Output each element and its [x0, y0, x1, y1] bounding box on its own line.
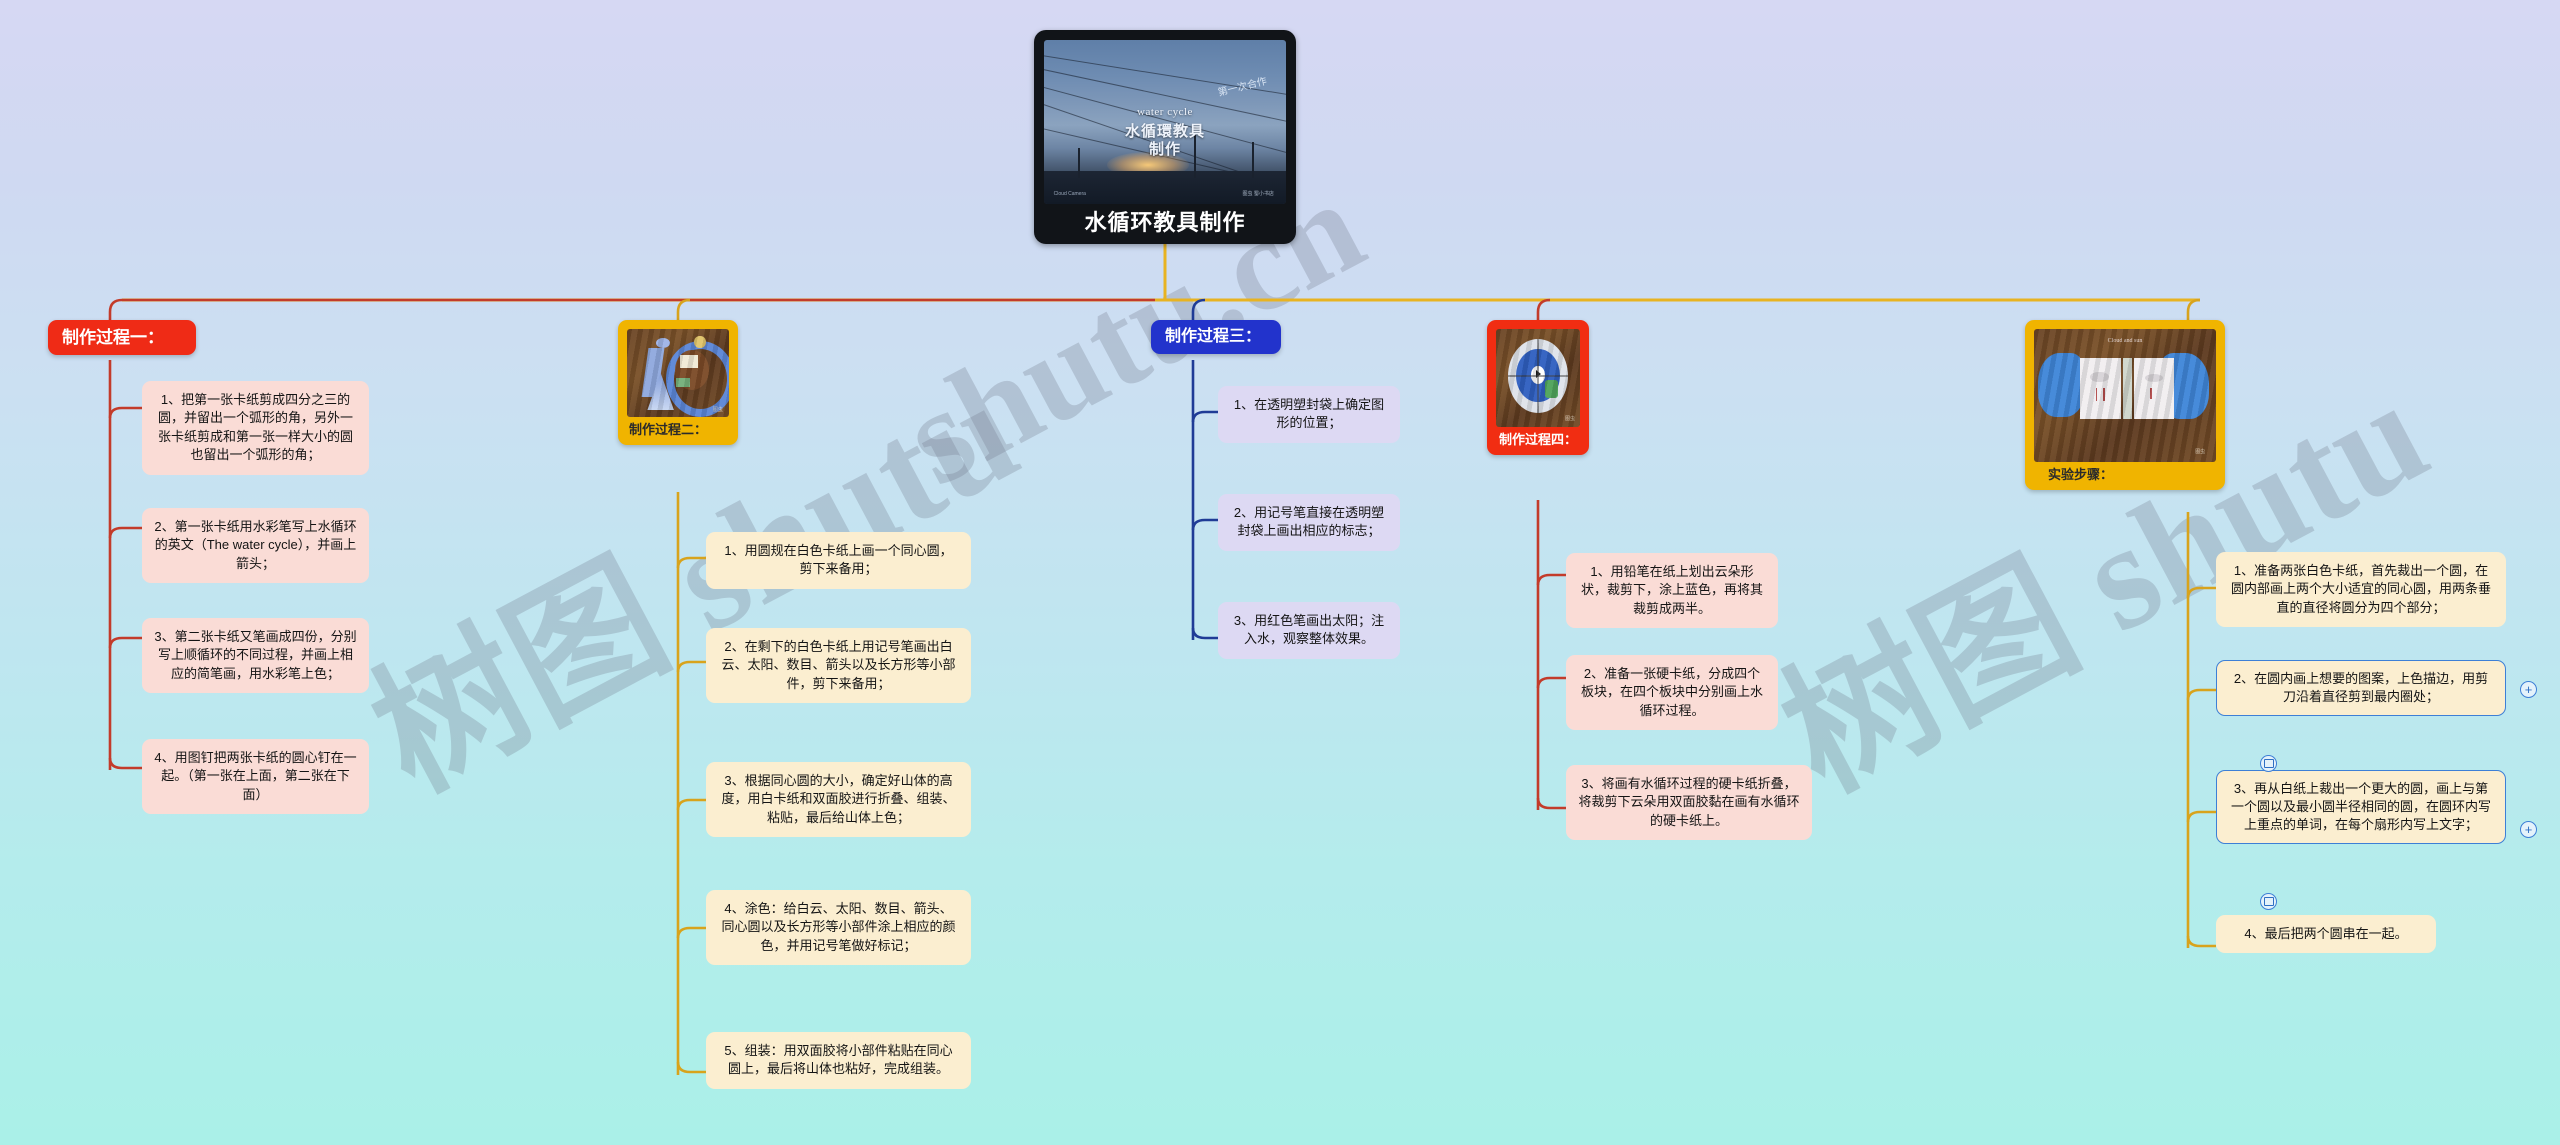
branch-2-item-2[interactable]: 2、在剩下的白色卡纸上用记号笔画出白云、太阳、数目、箭头以及长方形等小部件，剪下… [706, 628, 971, 703]
branch-5-photo-signature: 图虫 [2195, 448, 2205, 455]
branch-5-item-2[interactable]: 2、在圆内画上想要的图案，上色描边，用剪刀沿着直径剪到最内圈处； [2216, 660, 2506, 716]
branch-5-thumbnail: Cloud and sun 图虫 [2034, 329, 2216, 462]
add-child-button-item-3[interactable]: + [2520, 821, 2537, 838]
branch-2-header[interactable]: 图虫 制作过程二： [618, 320, 738, 445]
branch-4-thumbnail: 图虫 [1496, 329, 1580, 427]
root-node[interactable]: 第一次合作 water cycle 水循環教具 制作 Cloud Camera … [1034, 30, 1296, 244]
branch-1-item-3[interactable]: 3、第二张卡纸又笔画成四份，分别写上顺循环的不同过程，并画上相应的简笔画，用水彩… [142, 618, 369, 693]
cover-corner-mark: Cloud Camera [1054, 191, 1086, 197]
branch-5-item-4[interactable]: 4、最后把两个圆串在一起。 [2216, 915, 2436, 953]
branch-2-header-label: 制作过程二： [627, 422, 707, 438]
branch-4-header-label: 制作过程四： [1499, 432, 1577, 448]
branch-1-item-4[interactable]: 4、用图钉把两张卡纸的圆心钉在一起。（第一张在上面，第二张在下面） [142, 739, 369, 814]
add-child-button-item-2[interactable]: + [2520, 681, 2537, 698]
branch-3-header-label: 制作过程三： [1165, 327, 1267, 347]
branch-5-header-label: 实验步骤： [2034, 467, 2113, 483]
branch-2-item-1[interactable]: 1、用圆规在白色卡纸上画一个同心圆，剪下来备用； [706, 532, 971, 589]
branch-5-item-3[interactable]: 3、再从白纸上裁出一个更大的圆，画上与第一个圆以及最小圆半径相同的圆，在圆环内写… [2216, 770, 2506, 844]
cover-caption-cn-2: 制作 [1044, 138, 1286, 159]
branch-3-item-1[interactable]: 1、在透明塑封袋上确定图形的位置； [1218, 386, 1400, 443]
branch-1-item-2[interactable]: 2、第一张卡纸用水彩笔写上水循环的英文（The water cycle），并画上… [142, 508, 369, 583]
branch-5-header[interactable]: Cloud and sun 图虫 实验步骤： [2025, 320, 2225, 490]
branch-4-header[interactable]: 图虫 制作过程四： [1487, 320, 1589, 455]
branch-4-item-3[interactable]: 3、将画有水循环过程的硬卡纸折叠，将裁剪下云朵用双面胶黏在画有水循环的硬卡纸上。 [1566, 765, 1812, 840]
handwriting-overlay: 第一次合作 [1216, 72, 1268, 99]
branch-3-item-2[interactable]: 2、用记号笔直接在透明塑封袋上画出相应的标志； [1218, 494, 1400, 551]
branch-5-item-1[interactable]: 1、准备两张白色卡纸，首先裁出一个圆，在圆内部画上两个大小适宜的同心圆，用两条垂… [2216, 552, 2506, 627]
branch-1-item-1[interactable]: 1、把第一张卡纸剪成四分之三的圆，并留出一个弧形的角，另外一张卡纸剪成和第一张一… [142, 381, 369, 475]
collapse-icon [2264, 897, 2274, 906]
branch-4-item-1[interactable]: 1、用铅笔在纸上划出云朵形状，裁剪下，涂上蓝色，再将其裁剪成两半。 [1566, 553, 1778, 628]
collapse-icon [2264, 759, 2274, 768]
collapse-toggle-item-2[interactable] [2260, 755, 2277, 772]
branch-2-item-5[interactable]: 5、组装：用双面胶将小部件粘贴在同心圆上，最后将山体也粘好，完成组装。 [706, 1032, 971, 1089]
branch-3-header[interactable]: 制作过程三： [1151, 320, 1281, 354]
cover-brand-mark: 图虫 蜀小书店 [1243, 190, 1274, 197]
cover-caption-en: water cycle [1044, 106, 1286, 118]
branch-4-photo-signature: 图虫 [1565, 415, 1575, 422]
branch-3-item-3[interactable]: 3、用红色笔画出太阳；注入水，观察整体效果。 [1218, 602, 1400, 659]
branch-2-photo-signature: 图虫 [713, 406, 723, 413]
branch-1-header[interactable]: 制作过程一： [48, 320, 196, 355]
collapse-toggle-item-3[interactable] [2260, 893, 2277, 910]
branch-1-header-label: 制作过程一： [62, 327, 182, 348]
branch-2-thumbnail: 图虫 [627, 329, 729, 417]
root-cover-image: 第一次合作 water cycle 水循環教具 制作 Cloud Camera … [1044, 40, 1286, 204]
branch-2-item-3[interactable]: 3、根据同心圆的大小，确定好山体的高度，用白卡纸和双面胶进行折叠、组装、粘贴，最… [706, 762, 971, 837]
mindmap-canvas[interactable]: 树图 shutu shutu.cn 树图 shutu [0, 0, 2560, 1145]
branch-2-item-4[interactable]: 4、涂色：给白云、太阳、数目、箭头、同心圆以及长方形等小部件涂上相应的颜色，并用… [706, 890, 971, 965]
root-title: 水循环教具制作 [1084, 210, 1245, 238]
branch-4-item-2[interactable]: 2、准备一张硬卡纸，分成四个板块，在四个板块中分别画上水循环过程。 [1566, 655, 1778, 730]
